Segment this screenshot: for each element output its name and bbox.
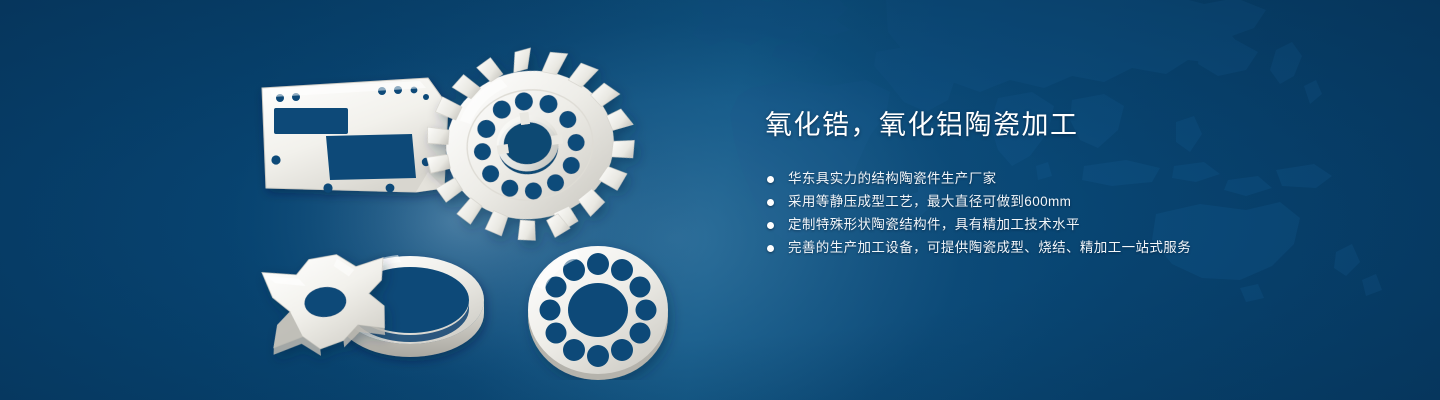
feature-text: 定制特殊形状陶瓷结构件，具有精加工技术水平 [788,214,1080,236]
ceramic-perforated-disc [528,246,668,380]
bullet-dot-icon [767,245,774,252]
page-title: 氧化锆，氧化铝陶瓷加工 [765,108,1385,142]
bullet-dot-icon [767,222,774,229]
list-item: 完善的生产加工设备，可提供陶瓷成型、烧结、精加工一站式服务 [765,237,1385,259]
feature-text: 华东具实力的结构陶瓷件生产厂家 [788,168,997,190]
bullet-dot-icon [767,176,774,183]
banner-copy: 氧化锆，氧化铝陶瓷加工 华东具实力的结构陶瓷件生产厂家 采用等静压成型工艺，最大… [765,108,1385,260]
hero-banner: 氧化锆，氧化铝陶瓷加工 华东具实力的结构陶瓷件生产厂家 采用等静压成型工艺，最大… [0,0,1440,400]
list-item: 定制特殊形状陶瓷结构件，具有精加工技术水平 [765,214,1385,236]
feature-text: 采用等静压成型工艺，最大直径可做到600mm [788,191,1071,213]
list-item: 采用等静压成型工艺，最大直径可做到600mm [765,191,1385,213]
ceramic-products-image [230,40,710,380]
ceramic-base-plate [262,78,448,193]
list-item: 华东具实力的结构陶瓷件生产厂家 [765,168,1385,190]
feature-list: 华东具实力的结构陶瓷件生产厂家 采用等静压成型工艺，最大直径可做到600mm 定… [765,168,1385,259]
bullet-dot-icon [767,199,774,206]
feature-text: 完善的生产加工设备，可提供陶瓷成型、烧结、精加工一站式服务 [788,237,1191,259]
